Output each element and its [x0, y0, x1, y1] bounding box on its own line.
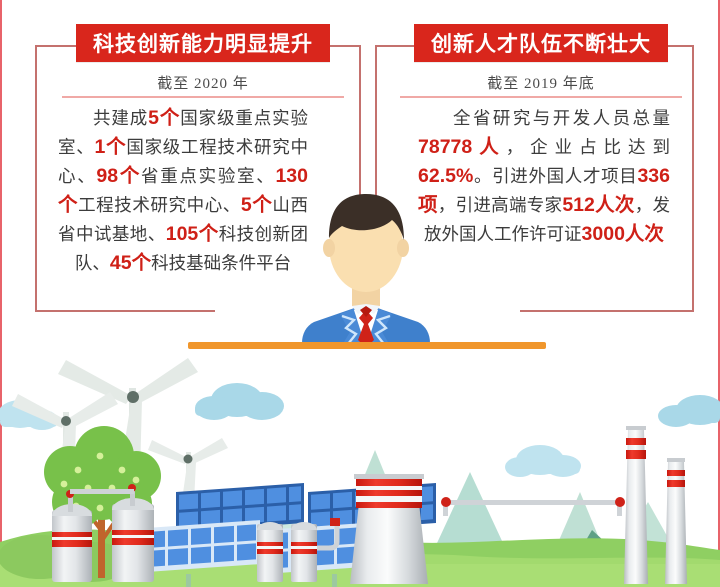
highlight-figure: 45 — [110, 252, 132, 274]
body-span: 全省研究与开发人员总量 — [453, 108, 670, 128]
highlight-figure: 个 — [118, 165, 141, 187]
highlight-figure: 62.5% — [418, 165, 473, 187]
cooling-tower — [350, 474, 428, 584]
highlight-figure: 个 — [58, 194, 78, 216]
highlight-figure: 105 — [166, 223, 199, 245]
cloud-icon — [505, 445, 581, 477]
highlight-figure: 98 — [96, 165, 118, 187]
panel-right-subtitle: 截至 2019 年底 — [414, 72, 668, 93]
infographic-root: 科技创新能力明显提升 截至 2020 年 共建成5个国家级重点实验室、1个国家级… — [0, 0, 720, 587]
highlight-figure: 人 — [472, 136, 505, 158]
cloud-icon — [195, 383, 284, 420]
highlight-figure: 个 — [252, 194, 273, 216]
body-span: 共建成 — [93, 108, 148, 128]
panel-left-body: 共建成5个国家级重点实验室、1个国家级工程技术研究中心、98个省重点实验室、13… — [58, 104, 308, 278]
highlight-figure: 5 — [148, 107, 159, 129]
panel-right-body: 全省研究与开发人员总量78778人，企业占比达到62.5%。引进外国人才项目33… — [418, 104, 670, 249]
businessman-figure — [296, 186, 436, 348]
cloud-icon — [658, 395, 720, 427]
smokestack — [624, 426, 648, 584]
storage-tank — [257, 522, 283, 582]
panel-left-subtitle-rule — [62, 96, 344, 98]
highlight-figure: 个 — [105, 136, 126, 158]
body-span: 省重点实验室、 — [141, 166, 275, 186]
panel-left-subtitle: 截至 2020 年 — [76, 72, 330, 93]
smokestack — [665, 458, 687, 584]
energy-industry-scene — [0, 352, 720, 587]
body-span: ，引进高端专家 — [438, 195, 563, 215]
body-span: 工程技术研究中心、 — [78, 195, 241, 215]
pipeline — [70, 489, 134, 494]
panel-right-subtitle-rule — [400, 96, 682, 98]
body-span: 科技基础条件平台 — [151, 253, 291, 273]
highlight-figure: 个 — [132, 252, 152, 274]
body-span: 。引进外国人才项目 — [473, 166, 637, 186]
highlight-figure: 个 — [159, 107, 180, 129]
highlight-figure: 130 — [275, 165, 308, 187]
highlight-figure: 78778 — [418, 136, 472, 158]
highlight-figure: 5 — [241, 194, 252, 216]
body-span: ，企业占比达到 — [506, 137, 670, 157]
panel-right-badge: 创新人才队伍不断壮大 — [414, 24, 668, 62]
panel-left-badge: 科技创新能力明显提升 — [76, 24, 330, 62]
highlight-figure: 个 — [198, 223, 218, 245]
podium-desk — [188, 342, 546, 349]
highlight-figure: 512人次 — [562, 194, 634, 216]
storage-tank — [291, 522, 317, 582]
highlight-figure: 3000人次 — [582, 223, 664, 245]
highlight-figure: 1 — [94, 136, 105, 158]
